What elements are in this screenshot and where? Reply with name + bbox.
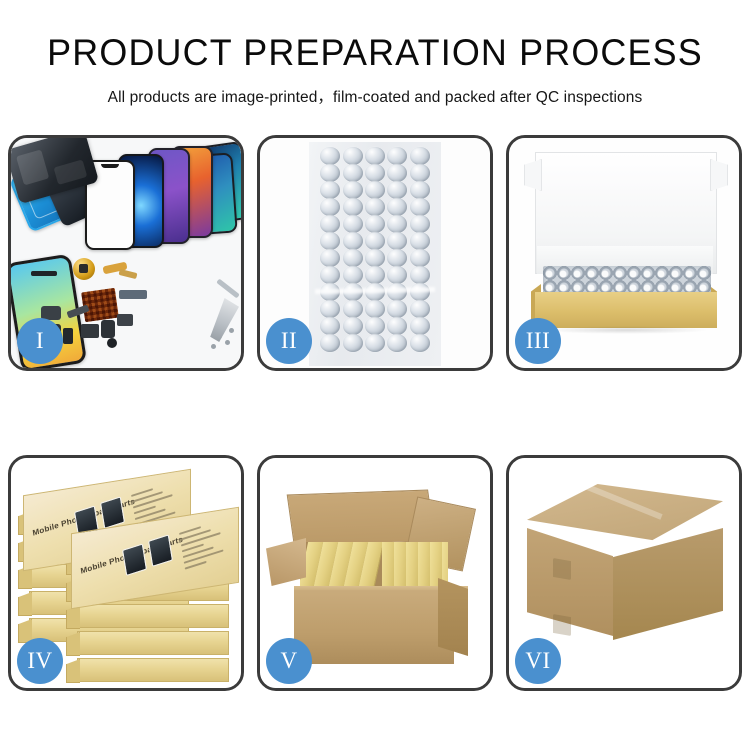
bubble-cell — [320, 198, 340, 216]
bubble-cell — [365, 300, 385, 318]
box-artwork-screen — [148, 534, 173, 567]
bubble-cell — [320, 181, 340, 199]
speaker-part-icon — [73, 258, 95, 280]
bubble-cell — [343, 232, 363, 250]
bubble-cell — [320, 266, 340, 284]
stacked-box-front — [77, 658, 229, 682]
page-title: PRODUCT PREPARATION PROCESS — [11, 34, 739, 71]
process-steps-grid: I II III Mobile Phone Spare PartsMobile — [8, 135, 742, 691]
step-badge-2: II — [266, 318, 312, 364]
bubble-cell — [343, 181, 363, 199]
bubble-cell — [365, 249, 385, 267]
bubble-cell — [410, 181, 430, 199]
bubble-cell — [410, 249, 430, 267]
bubble-cell — [320, 334, 340, 352]
bubble-cell — [410, 334, 430, 352]
page-subtitle: All products are image-printed，film-coat… — [0, 85, 750, 107]
process-step-1: I — [8, 135, 244, 371]
screw-icon — [225, 340, 230, 345]
bubble-cell — [387, 181, 407, 199]
process-step-2: II — [257, 135, 493, 371]
bubble-cell — [343, 300, 363, 318]
bubble-cell — [387, 249, 407, 267]
screw-icon — [211, 344, 216, 349]
box-shadow — [543, 326, 709, 334]
box-side-face — [66, 659, 80, 683]
bubble-cell — [343, 215, 363, 233]
step-badge-5: V — [266, 638, 312, 684]
bubble-cell — [387, 334, 407, 352]
box-spec-lines — [179, 519, 231, 574]
bubble-cell — [343, 249, 363, 267]
step-badge-6: VI — [515, 638, 561, 684]
process-step-5: V — [257, 455, 493, 691]
step-badge-1: I — [17, 318, 63, 364]
bubble-cell — [320, 232, 340, 250]
ribbon-cable-icon — [119, 290, 147, 299]
shield-part-icon — [117, 314, 133, 326]
sensor-part-icon — [63, 328, 73, 344]
bubble-cell — [410, 198, 430, 216]
bubble-cell — [365, 266, 385, 284]
bubble-cell — [387, 215, 407, 233]
bubble-cell — [365, 181, 385, 199]
bubble-cell — [387, 232, 407, 250]
bubble-cell — [410, 317, 430, 335]
bubble-cell — [320, 147, 340, 165]
bubble-cell — [343, 164, 363, 182]
bubble-cell — [365, 215, 385, 233]
bracket-part-icon — [81, 324, 99, 338]
bubble-cell — [365, 334, 385, 352]
bubble-cell — [387, 317, 407, 335]
process-step-6: VI — [506, 455, 742, 691]
page-header: PRODUCT PREPARATION PROCESS All products… — [0, 0, 750, 107]
bubble-cell — [387, 198, 407, 216]
bubble-cell — [387, 266, 407, 284]
stacked-box-front — [77, 631, 229, 655]
bubble-cell — [365, 164, 385, 182]
bubble-cell — [320, 249, 340, 267]
box-artwork-screen — [100, 496, 125, 529]
bubble-cell — [320, 215, 340, 233]
box-artwork-screen — [122, 543, 147, 576]
bubble-cell — [365, 147, 385, 165]
bubble-cell — [320, 164, 340, 182]
bubble-cell — [387, 300, 407, 318]
bubble-cell — [410, 300, 430, 318]
bubble-cell — [320, 317, 340, 335]
earpiece-part-icon — [101, 320, 115, 338]
bubble-cell — [320, 300, 340, 318]
bubble-cell — [410, 147, 430, 165]
bubble-cell — [343, 317, 363, 335]
box-side-face — [18, 592, 32, 616]
process-step-3: III — [506, 135, 742, 371]
bubble-cell — [365, 198, 385, 216]
bubble-cell — [410, 164, 430, 182]
bubble-grid — [319, 148, 431, 360]
bubble-cell — [387, 147, 407, 165]
bubble-cell — [365, 232, 385, 250]
bubble-cell — [343, 266, 363, 284]
process-step-4: Mobile Phone Spare PartsMobile Phone Spa… — [8, 455, 244, 691]
carton-flap-tab — [553, 558, 571, 580]
bubble-cell — [410, 266, 430, 284]
carton-side-panel — [438, 578, 468, 656]
bubble-cell — [343, 198, 363, 216]
bubble-cell — [343, 334, 363, 352]
bubble-cell — [343, 147, 363, 165]
stacked-box-front — [77, 604, 229, 628]
bubble-cell — [387, 164, 407, 182]
step-badge-4: IV — [17, 638, 63, 684]
button-part-icon — [107, 338, 117, 348]
step-badge-3: III — [515, 318, 561, 364]
carton-flap-tab — [553, 614, 571, 636]
part-strip-icon — [31, 271, 57, 276]
inner-box-front-panel — [535, 292, 717, 328]
bubble-cell — [365, 317, 385, 335]
bubble-cell — [410, 232, 430, 250]
screw-icon — [229, 328, 234, 333]
bubble-cell — [410, 215, 430, 233]
carton-front-panel — [294, 590, 454, 664]
